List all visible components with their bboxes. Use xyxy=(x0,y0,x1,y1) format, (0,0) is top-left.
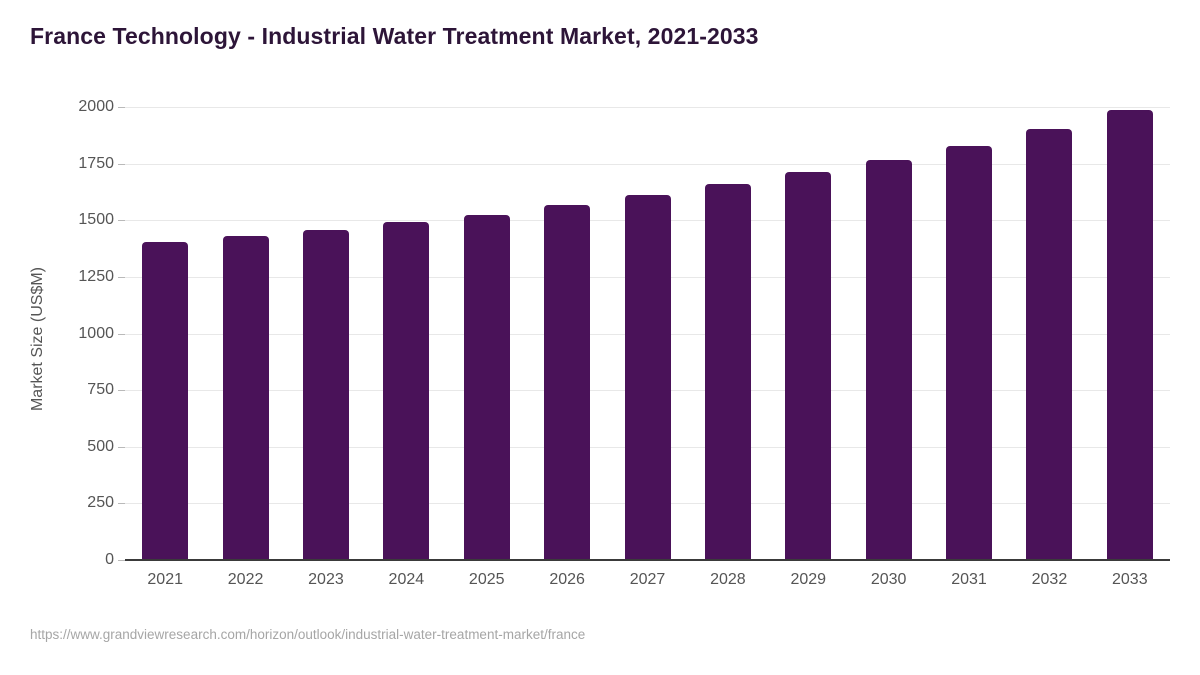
y-tick-label: 500 xyxy=(87,438,114,456)
bar[interactable] xyxy=(866,160,912,560)
y-tick-label: 250 xyxy=(87,494,114,512)
y-tick-mark xyxy=(118,334,125,335)
x-tick-label: 2026 xyxy=(549,571,585,589)
x-tick-label: 2028 xyxy=(710,571,746,589)
bar[interactable] xyxy=(705,184,751,560)
y-tick-mark xyxy=(118,107,125,108)
y-tick-mark xyxy=(118,277,125,278)
bar[interactable] xyxy=(785,172,831,560)
bar[interactable] xyxy=(383,222,429,560)
x-tick-label: 2027 xyxy=(630,571,666,589)
y-tick-mark xyxy=(118,164,125,165)
x-tick-label: 2030 xyxy=(871,571,907,589)
x-tick-label: 2021 xyxy=(147,571,183,589)
y-tick-label: 1750 xyxy=(78,155,114,173)
y-tick-label: 750 xyxy=(87,381,114,399)
x-tick-label: 2029 xyxy=(790,571,826,589)
y-tick-mark xyxy=(118,390,125,391)
y-axis-tick-labels: 025050075010001250150017502000 xyxy=(50,107,114,560)
bar[interactable] xyxy=(142,242,188,560)
bar[interactable] xyxy=(625,195,671,560)
x-tick-label: 2022 xyxy=(228,571,264,589)
bar[interactable] xyxy=(1107,110,1153,560)
y-tick-mark xyxy=(118,503,125,504)
x-tick-label: 2033 xyxy=(1112,571,1148,589)
y-tick-label: 1250 xyxy=(78,268,114,286)
x-tick-label: 2032 xyxy=(1032,571,1068,589)
y-tick-mark xyxy=(118,220,125,221)
plot-area xyxy=(125,107,1170,560)
bar[interactable] xyxy=(223,236,269,560)
y-tick-mark xyxy=(118,447,125,448)
bar[interactable] xyxy=(464,215,510,560)
bar[interactable] xyxy=(946,146,992,560)
y-axis-title: Market Size (US$M) xyxy=(29,239,47,439)
x-tick-label: 2031 xyxy=(951,571,987,589)
y-tick-label: 2000 xyxy=(78,98,114,116)
x-axis-line xyxy=(125,559,1170,561)
bar[interactable] xyxy=(1026,129,1072,560)
y-tick-label: 0 xyxy=(105,551,114,569)
x-tick-label: 2024 xyxy=(389,571,425,589)
bar[interactable] xyxy=(544,205,590,560)
chart-page: France Technology - Industrial Water Tre… xyxy=(0,0,1200,675)
y-tick-label: 1500 xyxy=(78,211,114,229)
gridline xyxy=(125,164,1170,165)
page-title: France Technology - Industrial Water Tre… xyxy=(30,23,759,50)
x-tick-label: 2025 xyxy=(469,571,505,589)
bar[interactable] xyxy=(303,230,349,560)
y-tick-label: 1000 xyxy=(78,325,114,343)
source-url-link[interactable]: https://www.grandviewresearch.com/horizo… xyxy=(30,627,585,642)
gridline xyxy=(125,107,1170,108)
x-tick-label: 2023 xyxy=(308,571,344,589)
y-tick-mark xyxy=(118,560,125,561)
